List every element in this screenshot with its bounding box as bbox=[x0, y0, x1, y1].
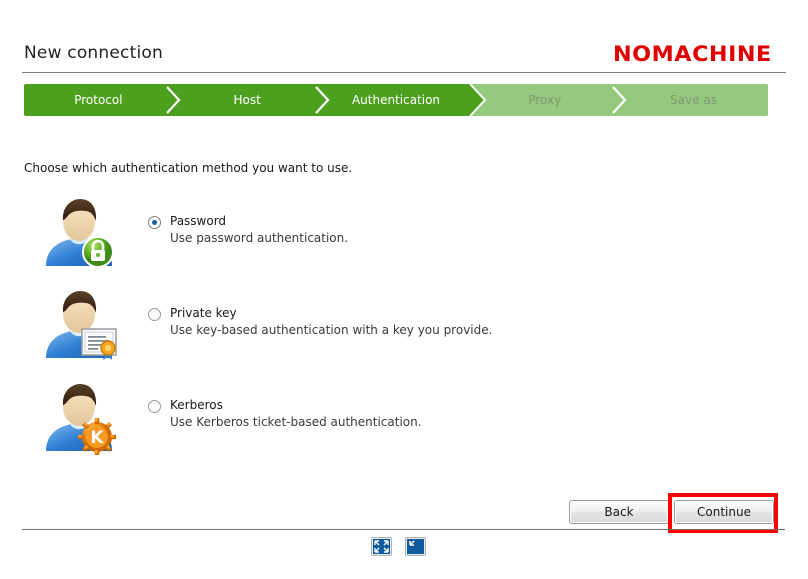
step-host[interactable]: Host bbox=[173, 84, 322, 116]
wizard-step-bar: Protocol Host Authentication Proxy Save … bbox=[24, 84, 768, 116]
step-protocol-label: Protocol bbox=[74, 93, 122, 107]
scale-down-icon[interactable] bbox=[405, 537, 426, 556]
nomachine-logo: NOMACHINE bbox=[613, 42, 772, 66]
user-kerberos-gear-avatar-icon: K bbox=[40, 381, 118, 455]
user-certificate-avatar-icon bbox=[40, 288, 118, 362]
step-proxy-label: Proxy bbox=[528, 93, 561, 107]
step-protocol[interactable]: Protocol bbox=[24, 84, 173, 116]
option-title-password: Password bbox=[170, 214, 226, 228]
radio-kerberos[interactable] bbox=[148, 400, 161, 413]
user-lock-avatar-icon bbox=[40, 196, 118, 270]
continue-button[interactable]: Continue bbox=[674, 500, 774, 524]
step-proxy[interactable]: Proxy bbox=[470, 84, 619, 116]
step-authentication-label: Authentication bbox=[352, 93, 440, 107]
step-save-as-label: Save as bbox=[670, 93, 717, 107]
radio-password[interactable] bbox=[148, 216, 161, 229]
back-button[interactable]: Back bbox=[569, 500, 669, 524]
step-host-label: Host bbox=[234, 93, 261, 107]
option-description-private-key: Use key-based authentication with a key … bbox=[170, 323, 492, 337]
header-divider bbox=[22, 72, 786, 73]
option-description-password: Use password authentication. bbox=[170, 231, 348, 245]
option-title-private-key: Private key bbox=[170, 306, 237, 320]
page-title: New connection bbox=[24, 43, 163, 63]
fullscreen-icon[interactable] bbox=[371, 537, 392, 556]
svg-text:K: K bbox=[90, 428, 104, 448]
step-save-as[interactable]: Save as bbox=[619, 84, 768, 116]
instruction-text: Choose which authentication method you w… bbox=[24, 161, 352, 175]
footer-divider bbox=[22, 529, 785, 530]
step-authentication[interactable]: Authentication bbox=[322, 84, 471, 116]
radio-private-key[interactable] bbox=[148, 308, 161, 321]
option-title-kerberos: Kerberos bbox=[170, 398, 223, 412]
option-description-kerberos: Use Kerberos ticket-based authentication… bbox=[170, 415, 422, 429]
